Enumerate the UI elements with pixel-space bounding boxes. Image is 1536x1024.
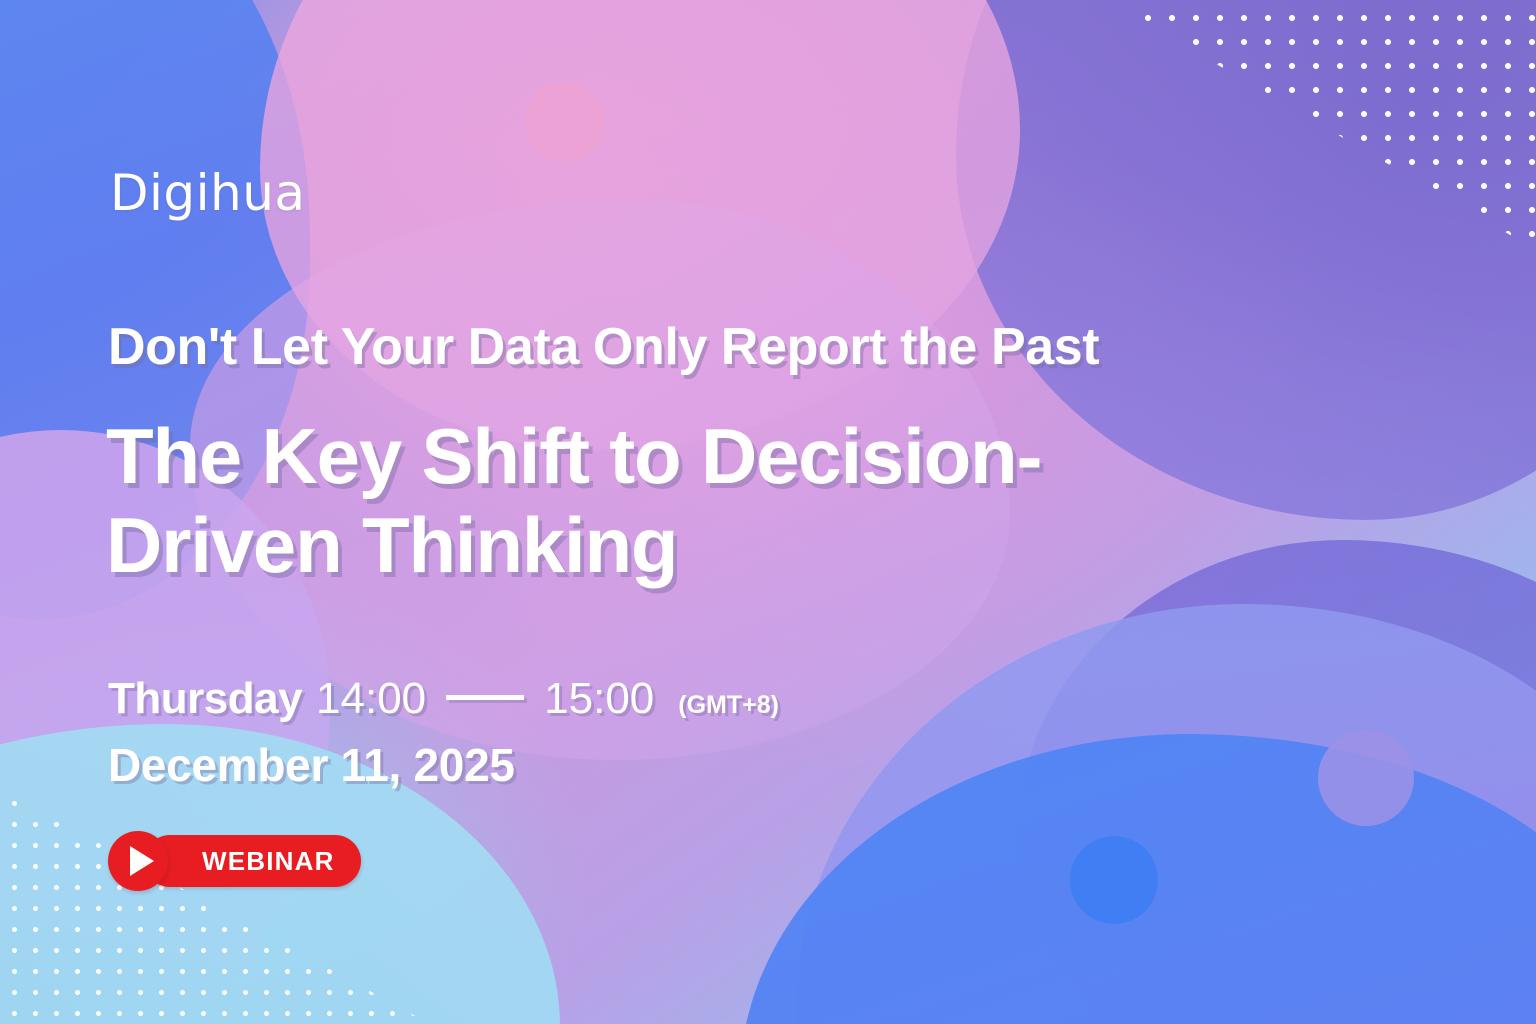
schedule-date: December 11, 2025 xyxy=(108,738,515,792)
schedule-time-row: Thursday 14:00 15:00 (GMT+8) xyxy=(108,674,779,724)
play-triangle-icon xyxy=(130,846,154,876)
webinar-badge-pill: WEBINAR xyxy=(144,835,361,887)
webinar-badge-label: WEBINAR xyxy=(202,848,335,874)
banner-content: Digihua Don't Let Your Data Only Report … xyxy=(0,0,1536,1024)
webinar-badge[interactable]: WEBINAR xyxy=(108,831,168,891)
brand-logo: Digihua xyxy=(110,168,306,218)
play-icon[interactable] xyxy=(108,831,168,891)
schedule-end-time: 15:00 xyxy=(544,674,654,724)
schedule-start-time: 14:00 xyxy=(316,674,426,724)
schedule-timezone: (GMT+8) xyxy=(678,691,779,720)
schedule-separator-dash xyxy=(446,695,524,700)
page-title: The Key Shift to Decision-Driven Thinkin… xyxy=(106,412,1226,590)
hero-eyebrow: Don't Let Your Data Only Report the Past xyxy=(108,320,1099,375)
schedule-day: Thursday xyxy=(108,674,302,724)
webinar-banner: Digihua Don't Let Your Data Only Report … xyxy=(0,0,1536,1024)
